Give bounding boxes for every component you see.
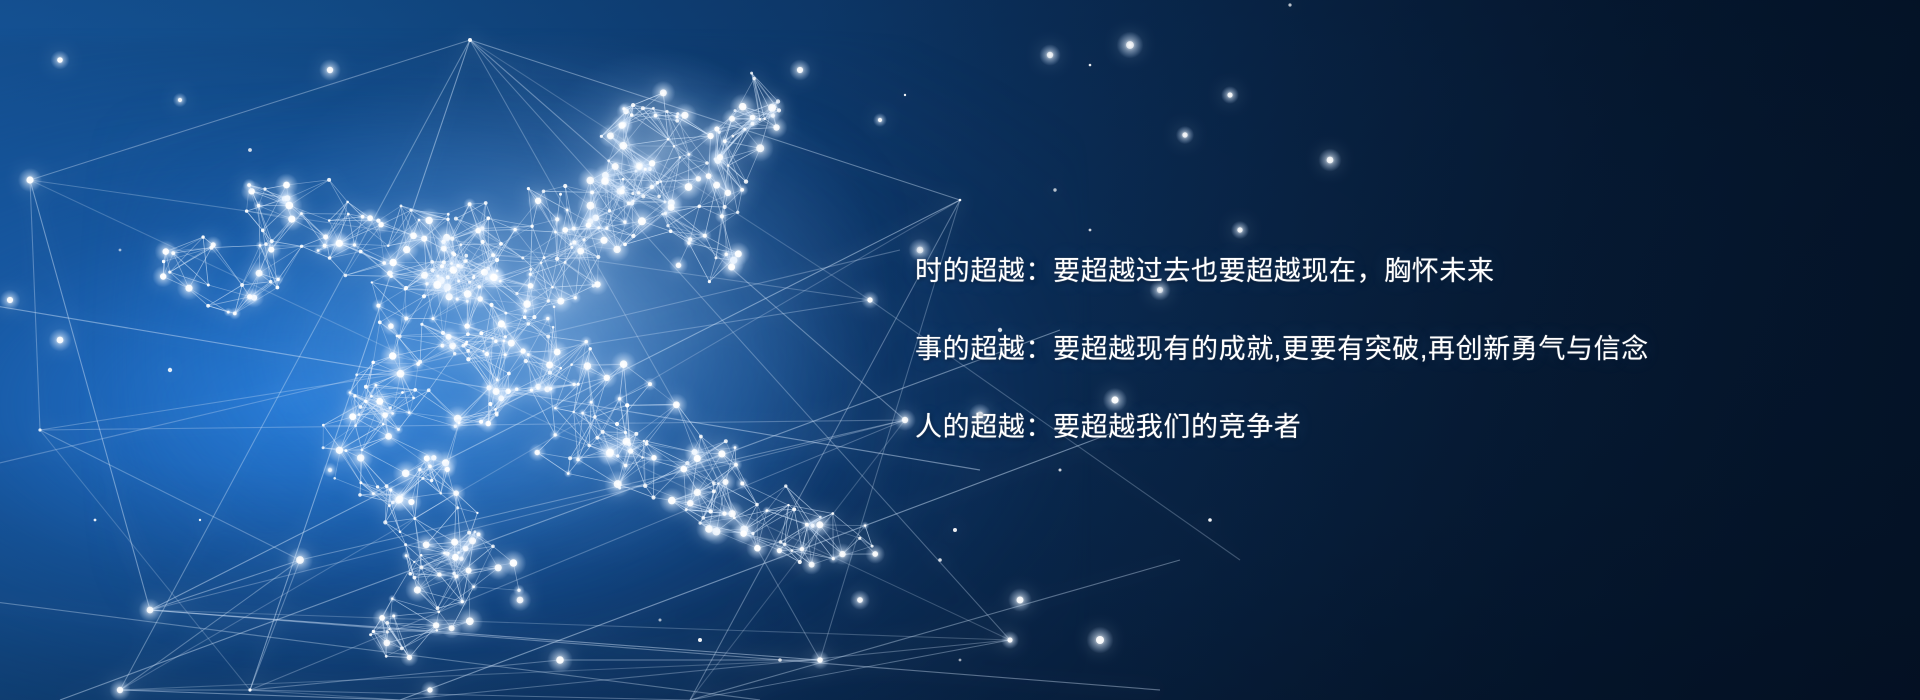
headline-line-3: 人的超越：要超越我们的竞争者	[915, 388, 1815, 466]
headline-block: 时的超越：要超越过去也要超越现在，胸怀未来 事的超越：要超越现有的成就,更要有突…	[915, 232, 1815, 466]
headline-line-1: 时的超越：要超越过去也要超越现在，胸怀未来	[915, 232, 1815, 310]
head-halo	[540, 50, 780, 250]
hero-banner: 时的超越：要超越过去也要超越现在，胸怀未来 事的超越：要超越现有的成就,更要有突…	[0, 0, 1920, 700]
headline-line-2: 事的超越：要超越现有的成就,更要有突破,再创新勇气与信念	[915, 310, 1815, 388]
